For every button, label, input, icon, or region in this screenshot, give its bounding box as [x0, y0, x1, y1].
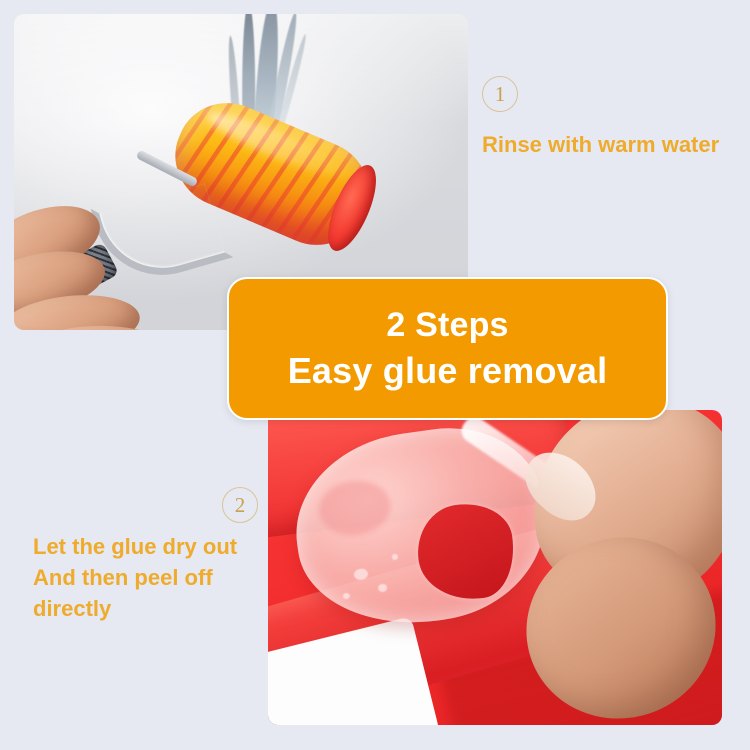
banner-line-1: 2 Steps — [386, 304, 508, 347]
headline-banner: 2 Steps Easy glue removal — [227, 277, 668, 420]
glue-film-tear-hole — [412, 498, 520, 606]
step-1-badge: 1 — [482, 76, 518, 112]
hand-holding-roller — [14, 200, 184, 330]
step-2-badge: 2 — [222, 487, 258, 523]
step-2-caption: Let the glue dry out And then peel off d… — [33, 531, 237, 625]
banner-line-2: Easy glue removal — [288, 348, 608, 393]
step-1-caption: Rinse with warm water — [482, 129, 719, 160]
infographic-canvas: 2 Steps Easy glue removal 1 Rinse with w… — [0, 0, 750, 750]
photo-peel-glue — [268, 410, 722, 725]
